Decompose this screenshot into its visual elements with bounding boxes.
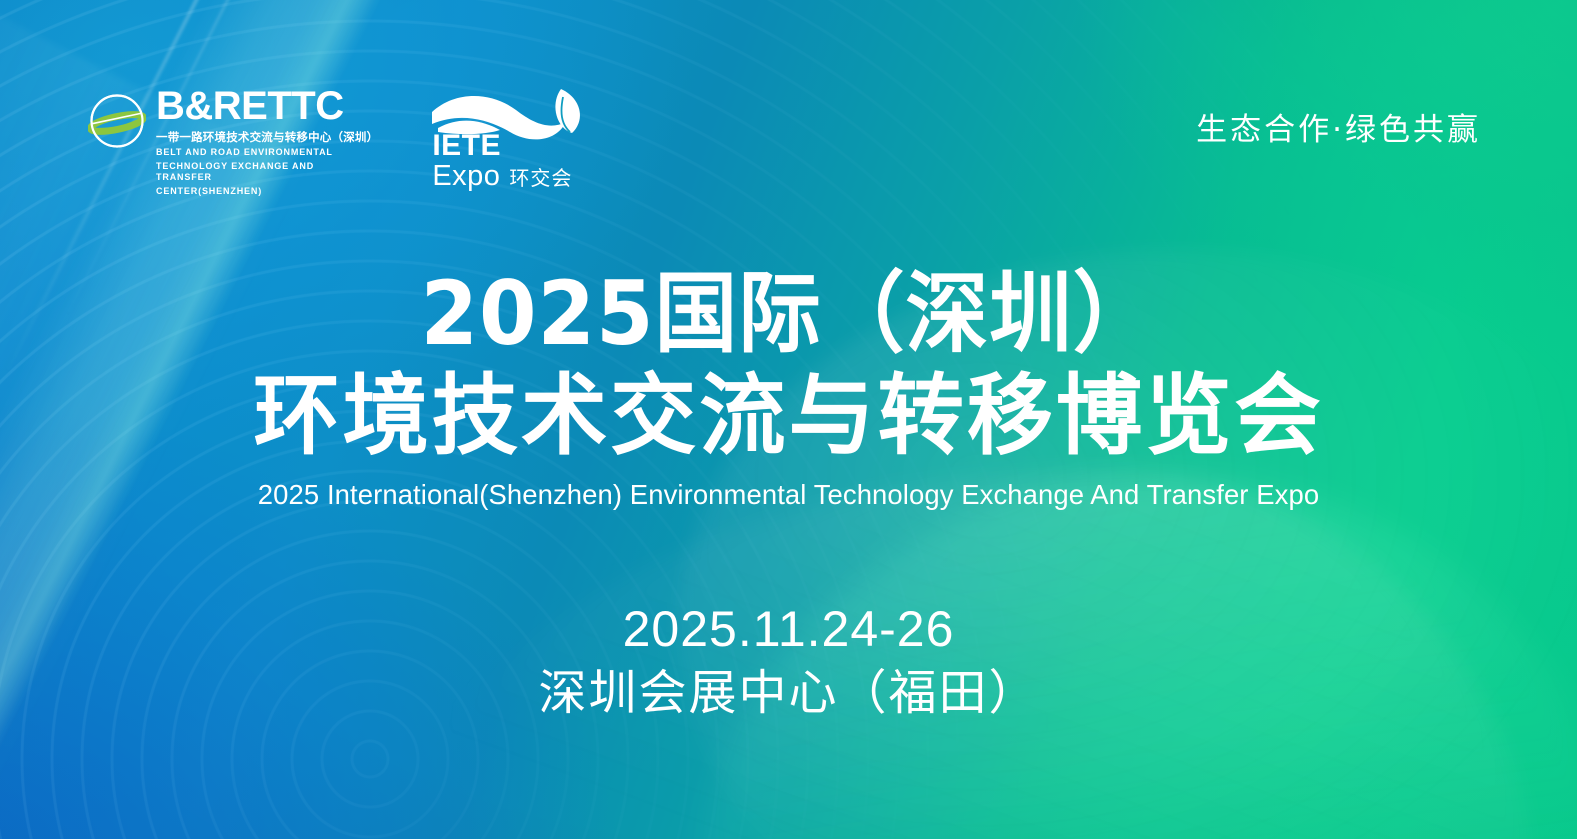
event-date: 2025.11.24-26 — [0, 598, 1577, 660]
subtitle-english: 2025 International(Shenzhen) Environment… — [16, 478, 1561, 512]
brettc-english-line-1: BELT AND ROAD ENVIRONMENTAL — [156, 147, 364, 159]
iete-line-2: Expo — [432, 161, 500, 192]
brettc-text-block: B&RETTC 一带一路环境技术交流与转移中心（深圳） BELT AND ROA… — [156, 86, 378, 197]
brettc-english-line-2: TECHNOLOGY EXCHANGE AND TRANSFER — [156, 161, 364, 184]
brettc-logo[interactable]: B&RETTC 一带一路环境技术交流与转移中心（深圳） BELT AND ROA… — [88, 86, 378, 197]
title-line-1: 2025国际（深圳） — [47, 264, 1529, 364]
event-venue: 深圳会展中心（福田） — [0, 662, 1577, 724]
iete-line-2-row: Expo 环交会 — [432, 161, 572, 194]
brettc-acronym: B&RETTC — [156, 86, 378, 126]
expo-poster: B&RETTC 一带一路环境技术交流与转移中心（深圳） BELT AND ROA… — [0, 0, 1577, 839]
event-info-block: 2025.11.24-26 深圳会展中心（福田） — [0, 598, 1577, 724]
brettc-english-line-3: CENTER(SHENZHEN) — [156, 186, 364, 198]
iete-chinese-short: 环交会 — [509, 163, 572, 194]
iete-line-1: IETE — [432, 130, 572, 161]
brettc-chinese-name: 一带一路环境技术交流与转移中心（深圳） — [156, 129, 378, 145]
logo-row: B&RETTC 一带一路环境技术交流与转移中心（深圳） BELT AND ROA… — [88, 86, 595, 197]
iete-expo-logo[interactable]: IETE Expo 环交会 — [430, 86, 595, 190]
title-line-2: 环境技术交流与转移博览会 — [16, 364, 1561, 468]
iete-wordmark: IETE Expo 环交会 — [432, 130, 572, 194]
globe-icon — [88, 92, 146, 150]
tagline: 生态合作·绿色共赢 — [1196, 104, 1481, 149]
headline-block: 2025国际（深圳） 环境技术交流与转移博览会 2025 Internation… — [0, 264, 1577, 512]
